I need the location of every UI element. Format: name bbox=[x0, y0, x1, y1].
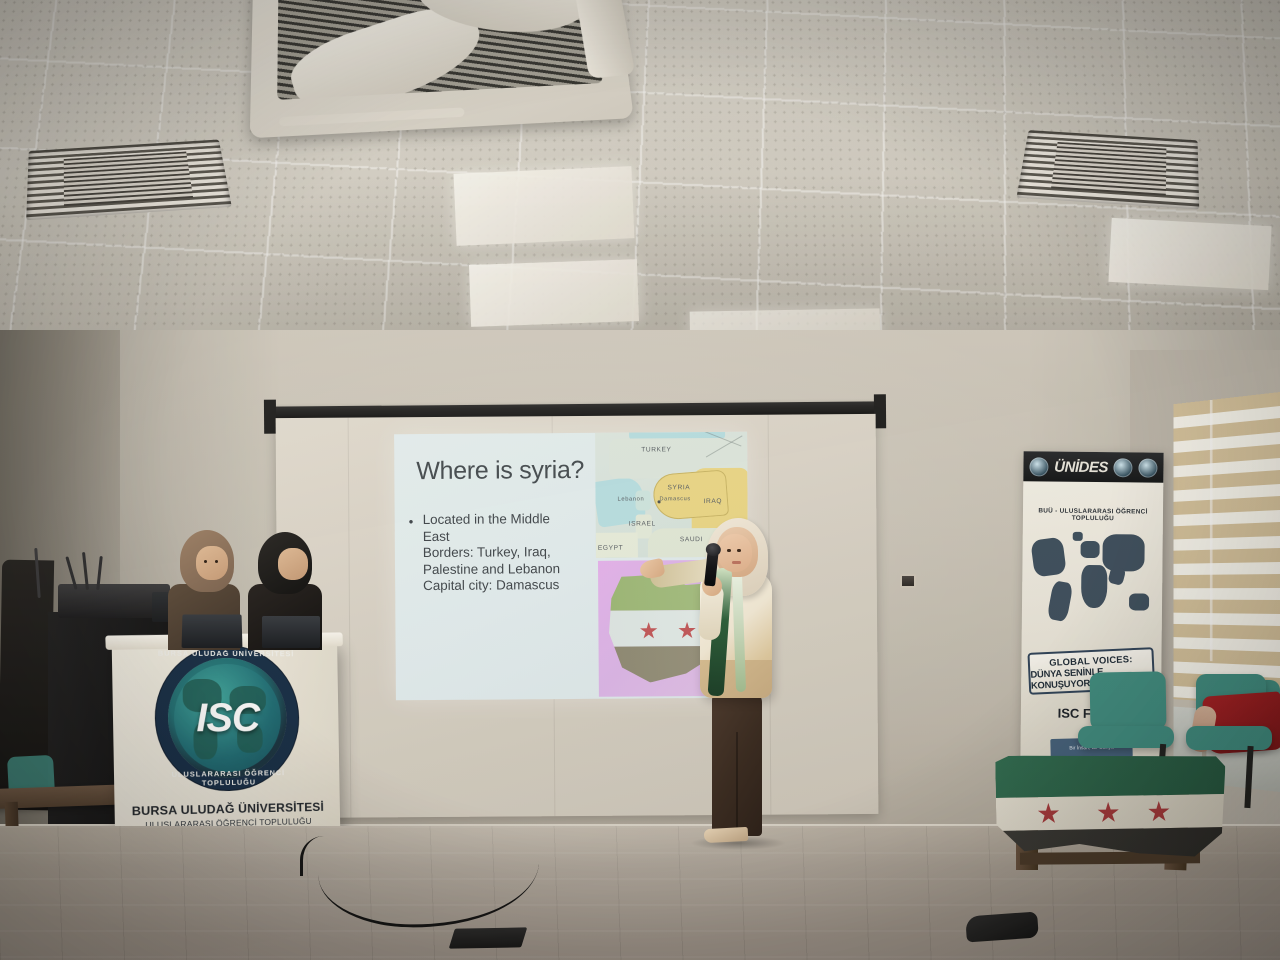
map-label-turkey: TURKEY bbox=[641, 446, 671, 453]
map-label-damascus: Damascus bbox=[660, 496, 691, 502]
country-syria-highlight bbox=[652, 469, 729, 521]
eye bbox=[215, 560, 218, 562]
conference-room-scene: Where is syria? • Located in the Middle … bbox=[0, 0, 1280, 960]
continent-asia bbox=[1102, 534, 1145, 571]
emblem-ring-top-text: BURSA ULUDAĞ ÜNİVERSİTESİ bbox=[155, 649, 297, 659]
screen-bracket bbox=[264, 400, 276, 434]
continent-australia bbox=[1129, 593, 1149, 610]
slide-line: Palestine and Lebanon bbox=[423, 560, 609, 578]
map-label-syria: SYRIA bbox=[667, 484, 690, 491]
logo-badge-icon bbox=[1114, 458, 1133, 477]
laptop[interactable] bbox=[262, 616, 320, 648]
floor-plate bbox=[449, 927, 528, 948]
ac-grille bbox=[277, 0, 603, 100]
ac-strip bbox=[279, 107, 465, 126]
eye bbox=[727, 549, 731, 552]
continent-south-america bbox=[1046, 580, 1073, 622]
air-diffuser-icon bbox=[26, 140, 232, 221]
map-label-iraq: IRAQ bbox=[704, 498, 723, 505]
map-label-saudi: SAUDI bbox=[680, 536, 703, 543]
banner-header: ÜNİDES bbox=[1023, 451, 1163, 482]
continent-north-america bbox=[1031, 536, 1068, 577]
presenter-shoe bbox=[704, 827, 749, 843]
ceiling-light-panel bbox=[454, 166, 635, 246]
world-map-graphic bbox=[1030, 529, 1155, 638]
air-diffuser-icon bbox=[1016, 130, 1199, 209]
emblem-ring-bottom-text: ULUSLARARASI ÖĞRENCİ TOPLULUĞU bbox=[157, 768, 300, 788]
ceiling-light-panel bbox=[1108, 218, 1271, 290]
syria-flag-tablecloth bbox=[995, 752, 1227, 860]
continent-india bbox=[1108, 565, 1127, 585]
ceiling-light-panel bbox=[469, 259, 639, 327]
logo-badge-icon bbox=[1138, 458, 1157, 477]
flag-band-green bbox=[995, 752, 1226, 798]
assistant-face bbox=[278, 548, 308, 580]
continent-africa bbox=[1081, 564, 1107, 607]
trouser-seam bbox=[736, 732, 738, 836]
wall-thermostat-icon[interactable] bbox=[900, 574, 916, 588]
floor bbox=[0, 826, 1280, 960]
slide-line: East bbox=[423, 527, 609, 545]
isc-monogram: ISC bbox=[167, 658, 288, 779]
eye bbox=[204, 560, 207, 562]
logo-badge-icon bbox=[1029, 457, 1048, 476]
slide-title: Where is syria? bbox=[416, 456, 584, 486]
slide-line: Located in the Middle bbox=[423, 511, 609, 529]
ac-cassette-unit-icon bbox=[250, 0, 634, 138]
continent-europe bbox=[1080, 541, 1100, 558]
slide-bullet-list: • Located in the Middle East Borders: Tu… bbox=[409, 511, 610, 595]
presenter-trousers bbox=[712, 692, 762, 836]
slide-line: Capital city: Damascus bbox=[423, 577, 609, 595]
mouth bbox=[732, 561, 741, 564]
map-label-lebanon: Lebanon bbox=[618, 496, 645, 502]
presenter-face bbox=[718, 534, 752, 572]
banner-subtitle: BUÜ - ULUSLARARASI ÖĞRENCİ TOPLULUĞU bbox=[1023, 507, 1163, 522]
continent-greenland bbox=[1073, 532, 1083, 541]
screen-fold bbox=[348, 418, 352, 818]
map-label-israel: ISRAEL bbox=[629, 520, 656, 527]
diffuser-cone bbox=[63, 152, 193, 206]
map-label-egypt: EGYPT bbox=[598, 545, 623, 552]
chair-seat[interactable] bbox=[1186, 726, 1272, 750]
slide-line: Borders: Turkey, Iraq, bbox=[423, 544, 609, 562]
bullet-marker: • bbox=[409, 514, 414, 531]
diffuser-cone bbox=[1051, 142, 1167, 195]
screen-bracket bbox=[874, 394, 886, 428]
eye bbox=[737, 549, 741, 552]
blind-seam bbox=[1210, 400, 1213, 662]
chair-backrest[interactable] bbox=[1089, 671, 1166, 730]
floor-object bbox=[965, 912, 1039, 943]
laptop[interactable] bbox=[182, 615, 243, 648]
isc-emblem: ISC BURSA ULUDAĞ ÜNİVERSİTESİ ULUSLARARA… bbox=[167, 658, 288, 779]
floor-sheen bbox=[0, 826, 1280, 960]
unides-wordmark: ÜNİDES bbox=[1054, 458, 1108, 476]
assistant-face bbox=[196, 546, 228, 580]
